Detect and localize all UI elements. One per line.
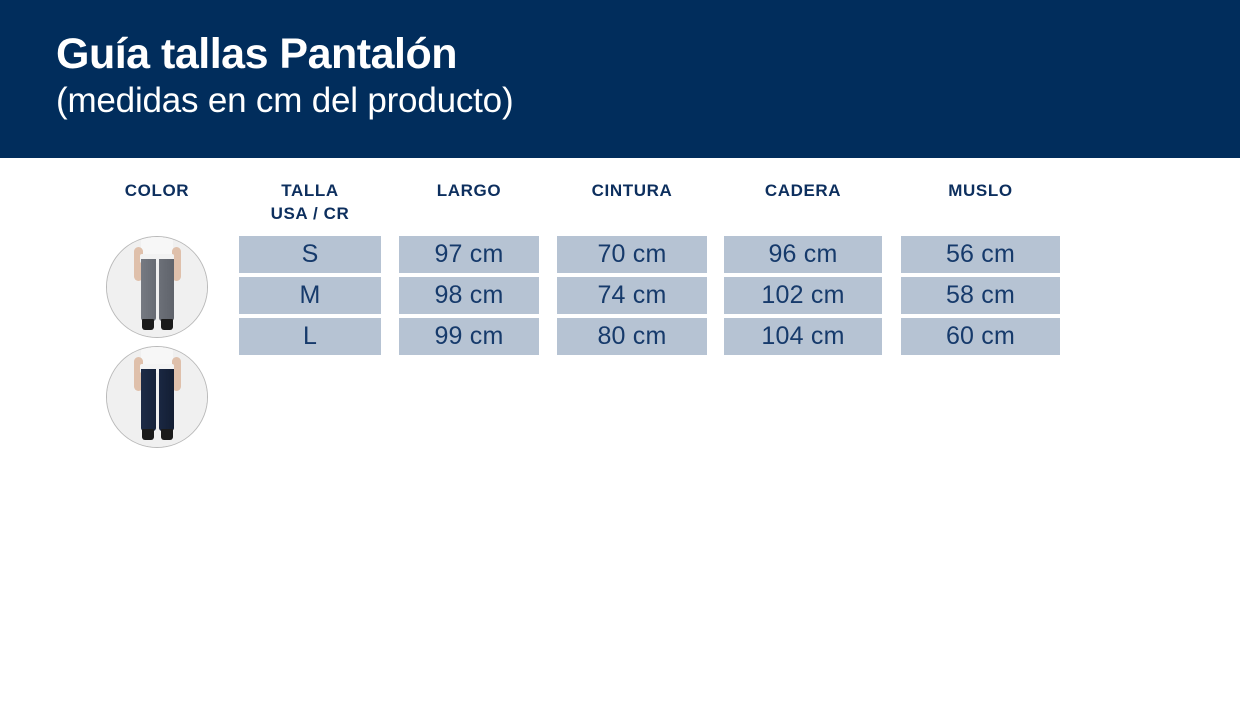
page-title: Guía tallas Pantalón <box>56 30 1240 78</box>
column-header-cadera-label: CADERA <box>765 181 841 200</box>
column-header-talla: TALLA USA / CR <box>239 180 381 226</box>
cell-cadera: 104 cm <box>724 318 882 355</box>
table-row: M 98 cm 74 cm 102 cm 58 cm <box>0 277 1240 314</box>
column-header-color: COLOR <box>106 180 208 203</box>
column-header-color-label: COLOR <box>125 181 189 200</box>
column-header-largo: LARGO <box>399 180 539 203</box>
cell-cintura: 80 cm <box>557 318 707 355</box>
photo-pant-leg-right <box>159 369 174 431</box>
column-header-cadera: CADERA <box>724 180 882 203</box>
page-subtitle: (medidas en cm del producto) <box>56 80 1240 123</box>
column-header-cintura: CINTURA <box>557 180 707 203</box>
photo-shoe-left <box>142 429 154 440</box>
photo-pants <box>141 369 174 431</box>
cell-muslo: 60 cm <box>901 318 1060 355</box>
cell-muslo: 56 cm <box>901 236 1060 273</box>
cell-muslo: 58 cm <box>901 277 1060 314</box>
measurement-grid: S 97 cm 70 cm 96 cm 56 cm M 98 cm 74 cm … <box>0 236 1240 359</box>
table-row: L 99 cm 80 cm 104 cm 60 cm <box>0 318 1240 355</box>
cell-talla: M <box>239 277 381 314</box>
cell-cintura: 74 cm <box>557 277 707 314</box>
cell-cadera: 102 cm <box>724 277 882 314</box>
product-photo-navy-pants <box>106 346 208 448</box>
cell-largo: 97 cm <box>399 236 539 273</box>
cell-cintura: 70 cm <box>557 236 707 273</box>
page-header-band: Guía tallas Pantalón (medidas en cm del … <box>0 0 1240 158</box>
table-row: S 97 cm 70 cm 96 cm 56 cm <box>0 236 1240 273</box>
column-header-largo-label: LARGO <box>437 181 501 200</box>
photo-shoe-right <box>161 429 173 440</box>
cell-talla: L <box>239 318 381 355</box>
column-header-muslo: MUSLO <box>901 180 1060 203</box>
column-header-muslo-label: MUSLO <box>948 181 1012 200</box>
table-column-headers: COLOR TALLA USA / CR LARGO CINTURA CADER… <box>0 158 1240 226</box>
cell-largo: 99 cm <box>399 318 539 355</box>
size-guide-table: COLOR TALLA USA / CR LARGO CINTURA CADER… <box>0 158 1240 720</box>
photo-pant-leg-left <box>141 369 156 431</box>
column-header-cintura-label: CINTURA <box>592 181 673 200</box>
cell-talla: S <box>239 236 381 273</box>
cell-cadera: 96 cm <box>724 236 882 273</box>
cell-largo: 98 cm <box>399 277 539 314</box>
column-header-talla-sublabel: USA / CR <box>239 203 381 226</box>
column-header-talla-label: TALLA <box>281 181 338 200</box>
